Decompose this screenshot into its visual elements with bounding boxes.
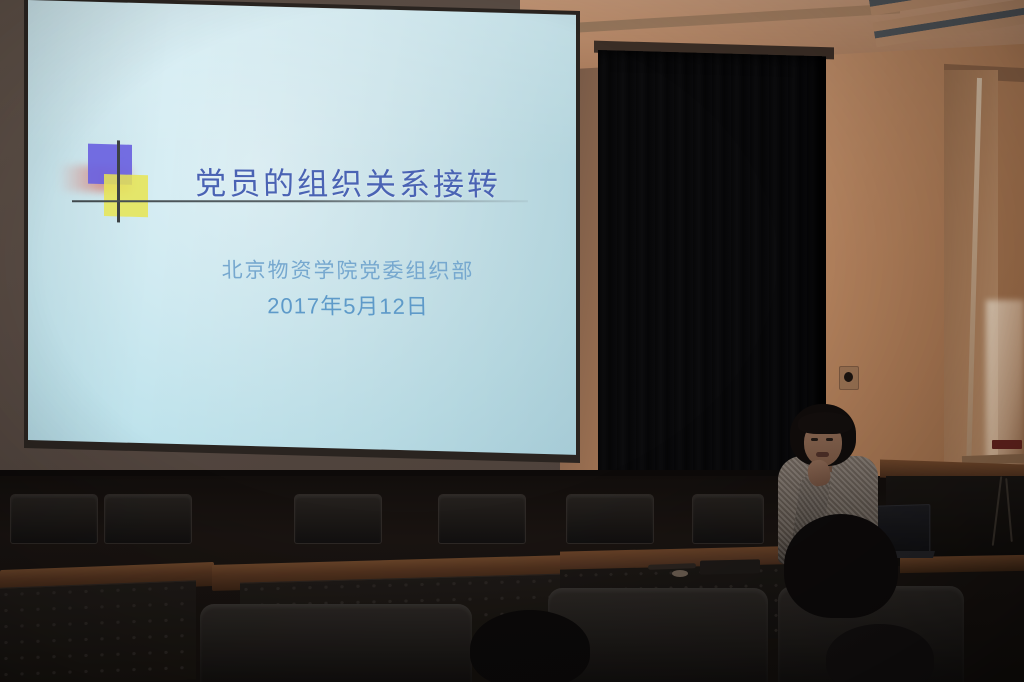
chair-back-1 bbox=[10, 494, 98, 544]
chair-back-4 bbox=[438, 494, 526, 544]
chair-back-3 bbox=[294, 494, 382, 544]
wall-outlet-icon bbox=[839, 366, 859, 390]
slide-subtitle-date: 2017年5月12日 bbox=[148, 288, 549, 322]
cup-on-desk bbox=[672, 570, 688, 577]
logo-yellow-square bbox=[104, 174, 148, 217]
slide-subtitle-organization: 北京物资学院党委组织部 bbox=[148, 254, 549, 286]
foreground-chair-1 bbox=[200, 604, 472, 682]
presenter-mouth bbox=[816, 452, 829, 457]
chair-back-6 bbox=[692, 494, 764, 544]
screen-glare bbox=[28, 0, 576, 455]
audience-head-1 bbox=[784, 514, 898, 618]
notebook-on-desk bbox=[700, 559, 760, 574]
slide-logo-mark bbox=[64, 139, 148, 221]
presenter-eye-left bbox=[811, 438, 818, 441]
presenter-eye-right bbox=[826, 438, 833, 441]
projection-screen: 党员的组织关系接转 北京物资学院党委组织部 2017年5月12日 bbox=[28, 0, 576, 455]
chair-back-2 bbox=[104, 494, 192, 544]
desk-left-panel bbox=[0, 580, 196, 682]
chair-back-5 bbox=[566, 494, 654, 544]
sill-object bbox=[992, 440, 1022, 449]
logo-vertical-rule bbox=[117, 140, 120, 222]
presenter-bangs bbox=[798, 412, 852, 434]
audience-head-3 bbox=[470, 610, 590, 682]
lecture-hall-scene: 党员的组织关系接转 北京物资学院党委组织部 2017年5月12日 bbox=[0, 0, 1024, 682]
slide-title: 党员的组织关系接转 bbox=[158, 158, 539, 205]
